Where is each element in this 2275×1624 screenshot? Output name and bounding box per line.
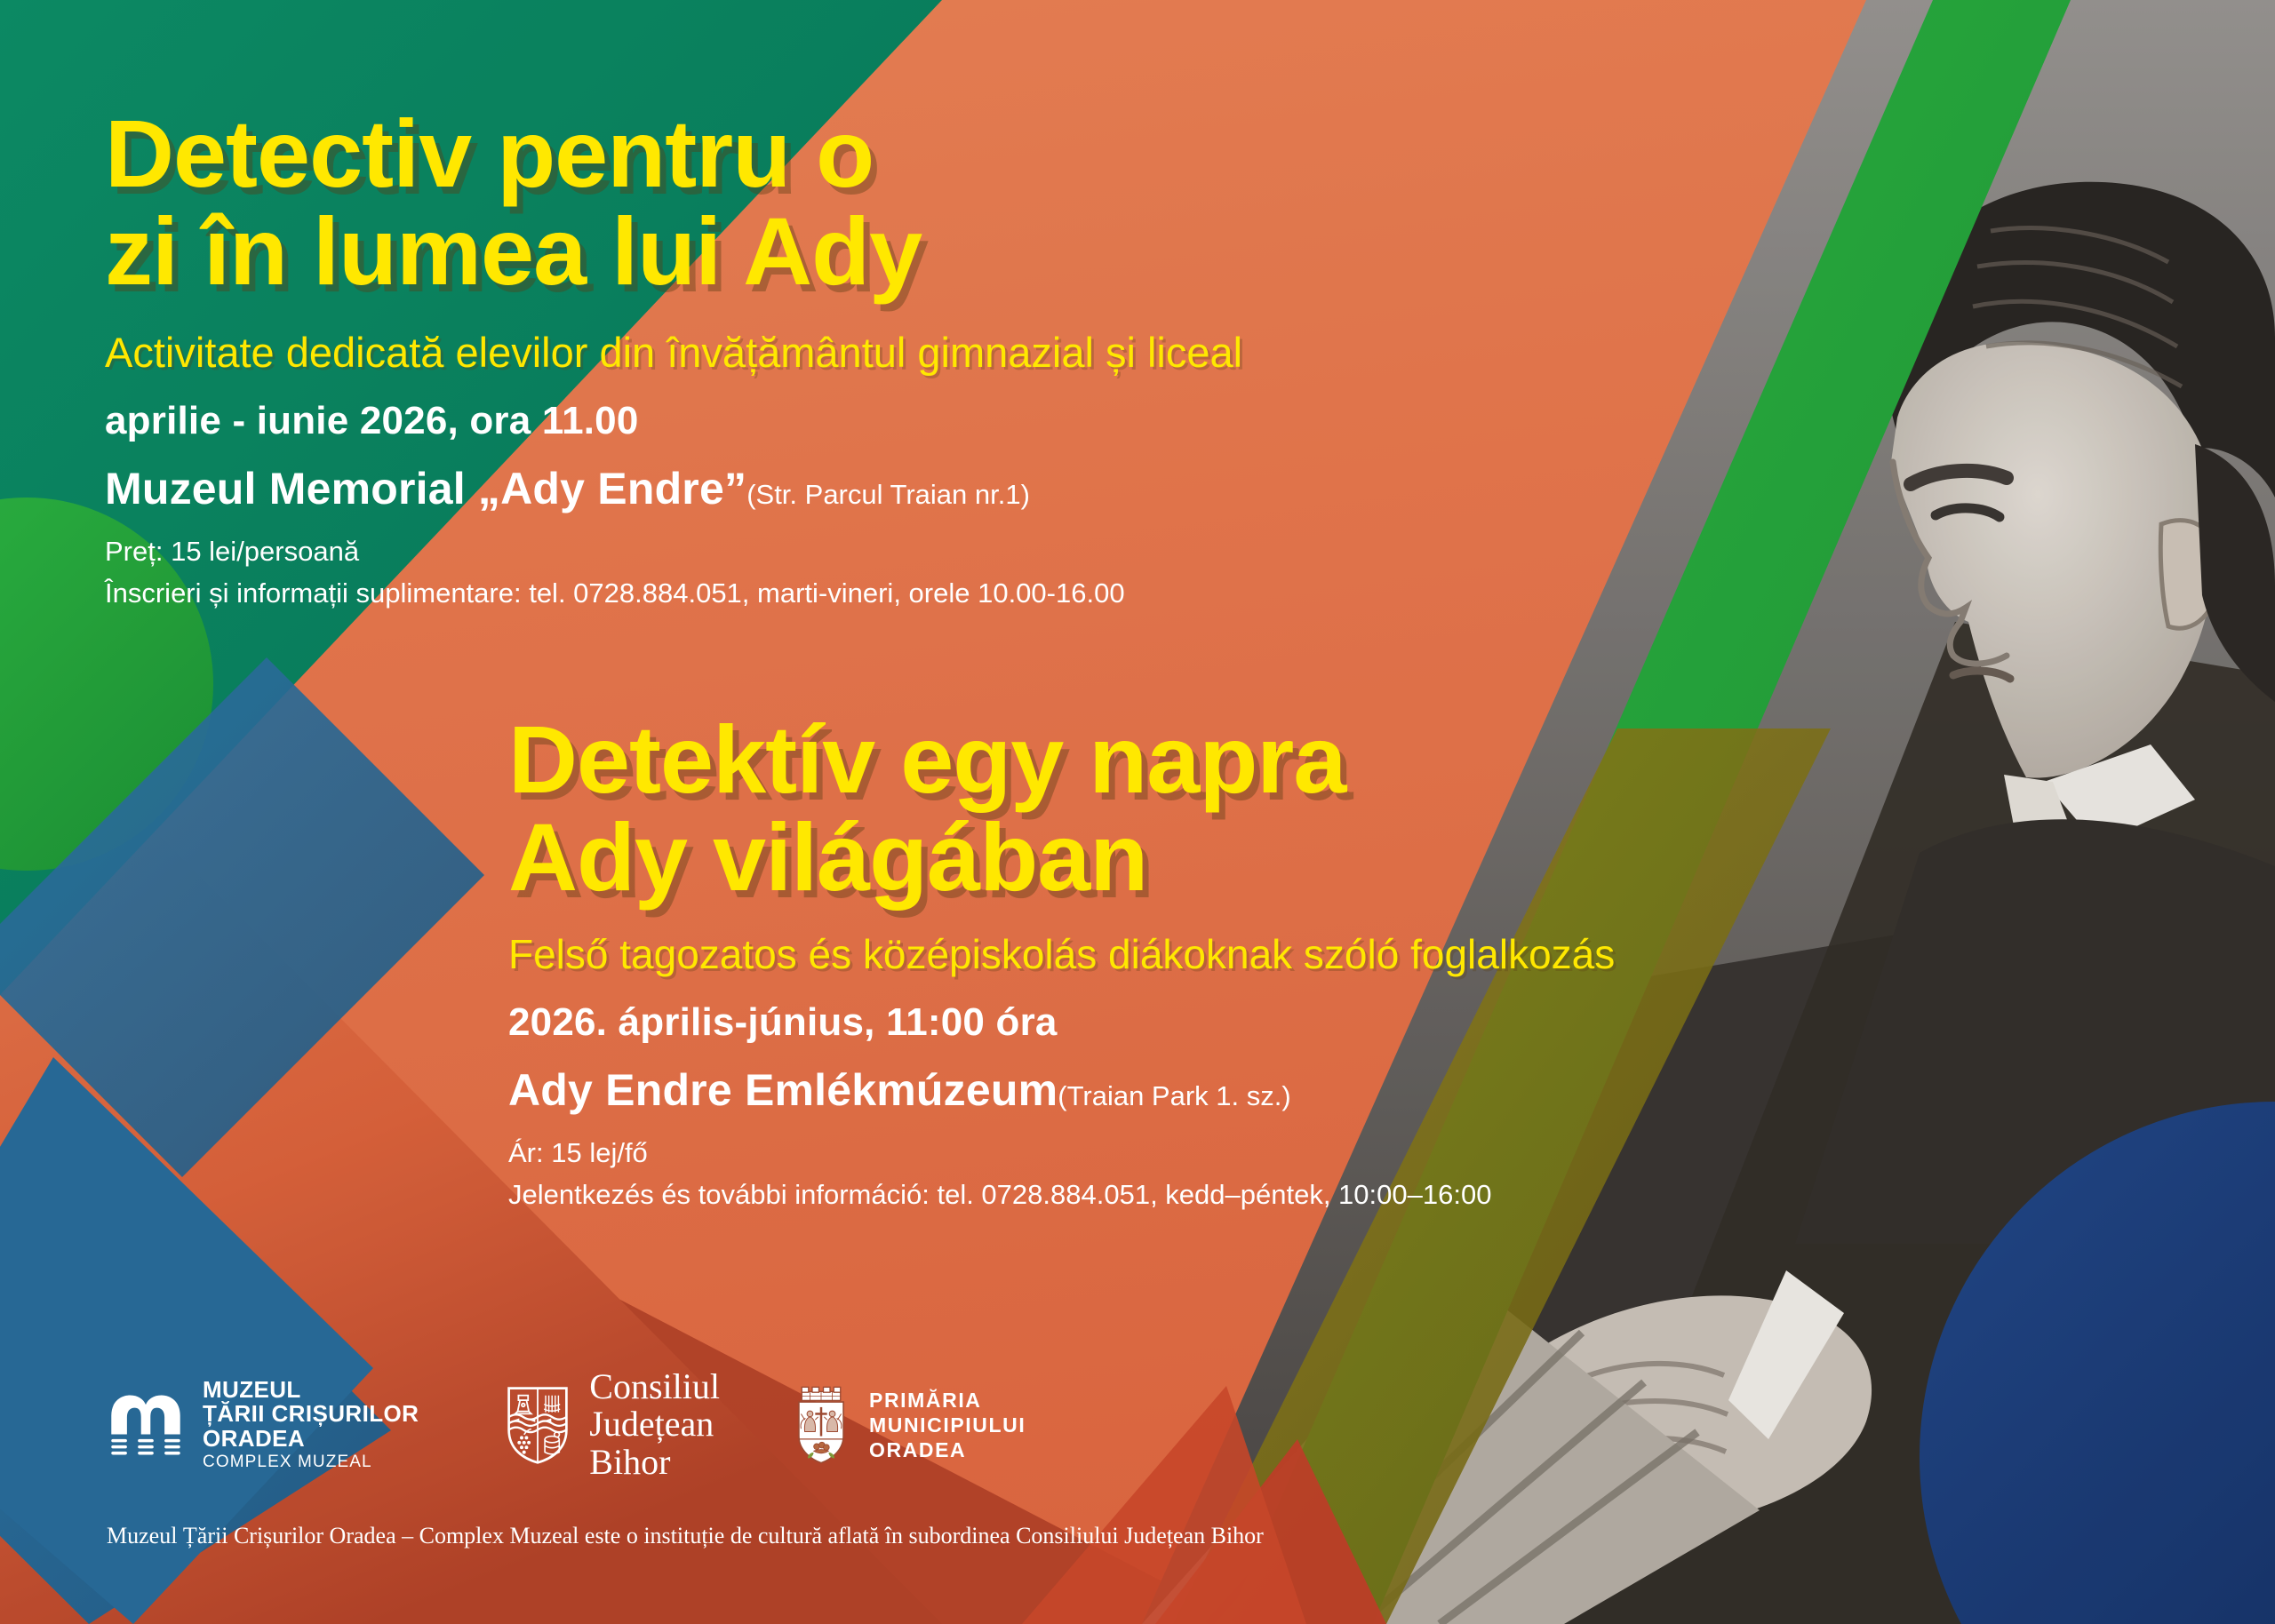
oradea-cityhall-line3: ORADEA [869,1437,1026,1462]
bihor-council-line2: Județean [589,1405,720,1443]
footer-note: Muzeul Țării Crișurilor Oradea – Complex… [107,1523,1264,1549]
logo-row: MUZEUL ȚĂRII CRIȘURILOR ORADEA COMPLEX M… [107,1368,1026,1481]
romanian-title-line2: zi în lumea lui Ady [105,203,1491,300]
romanian-price: Preț: 15 lei/persoană [105,536,1491,568]
oradea-coat-of-arms-icon [791,1384,851,1466]
hungarian-title-line1: Detektív egy napra [508,705,1345,813]
museum-logo-line1: MUZEUL [203,1378,419,1403]
hungarian-venue-name: Ady Endre Emlékmúzeum [508,1065,1058,1115]
hungarian-text-block: Detektív egy napra Ady világában Felső t… [508,711,1895,1211]
hungarian-title-line2: Ady világában [508,808,1895,906]
museum-logo-line3: ORADEA [203,1427,419,1452]
hungarian-venue: Ady Endre Emlékmúzeum(Traian Park 1. sz.… [508,1064,1895,1116]
romanian-subtitle: Activitate dedicată elevilor din învățăm… [105,330,1491,376]
hungarian-date: 2026. április-június, 11:00 óra [508,1000,1895,1045]
logo-consiliul-judetean-bihor: Consiliul Județean Bihor [506,1368,720,1481]
bihor-council-line3: Bihor [589,1444,720,1481]
romanian-contact: Înscrieri și informații suplimentare: te… [105,577,1491,609]
romanian-text-block: Detectiv pentru o zi în lumea lui Ady Ac… [105,105,1491,609]
bihor-council-line1: Consiliul [589,1368,720,1405]
museum-logo-sub: COMPLEX MUZEAL [203,1453,419,1471]
poster-canvas: Detectiv pentru o zi în lumea lui Ady Ac… [0,0,2275,1624]
oradea-cityhall-line2: MUNICIPIULUI [869,1413,1026,1437]
bihor-coat-of-arms-icon [506,1385,570,1465]
hungarian-subtitle: Felső tagozatos és középiskolás diákokna… [508,933,1895,977]
romanian-title-line1: Detectiv pentru o [105,100,874,207]
bihor-council-text: Consiliul Județean Bihor [589,1368,720,1481]
hungarian-contact: Jelentkezés és további információ: tel. … [508,1179,1895,1211]
hungarian-price: Ár: 15 lej/fő [508,1137,1895,1169]
museum-logo-text: MUZEUL ȚĂRII CRIȘURILOR ORADEA COMPLEX M… [203,1378,419,1472]
oradea-cityhall-text: PRIMĂRIA MUNICIPIULUI ORADEA [869,1388,1026,1462]
logo-muzeul-tarii-crisurilor: MUZEUL ȚĂRII CRIȘURILOR ORADEA COMPLEX M… [107,1378,419,1472]
logo-primaria-municipiului-oradea: PRIMĂRIA MUNICIPIULUI ORADEA [791,1384,1026,1466]
romanian-venue-address: (Str. Parcul Traian nr.1) [746,479,1030,510]
romanian-venue-name: Muzeul Memorial „Ady Endre” [105,464,746,513]
hungarian-title: Detektív egy napra Ady világában [508,711,1895,906]
romanian-date: aprilie - iunie 2026, ora 11.00 [105,399,1491,443]
hungarian-venue-address: (Traian Park 1. sz.) [1058,1080,1290,1111]
museum-m-monogram-icon [107,1386,185,1464]
museum-logo-line2: ȚĂRII CRIȘURILOR [203,1402,419,1427]
romanian-venue: Muzeul Memorial „Ady Endre”(Str. Parcul … [105,463,1491,514]
romanian-title: Detectiv pentru o zi în lumea lui Ady [105,105,1491,300]
oradea-cityhall-line1: PRIMĂRIA [869,1388,1026,1413]
